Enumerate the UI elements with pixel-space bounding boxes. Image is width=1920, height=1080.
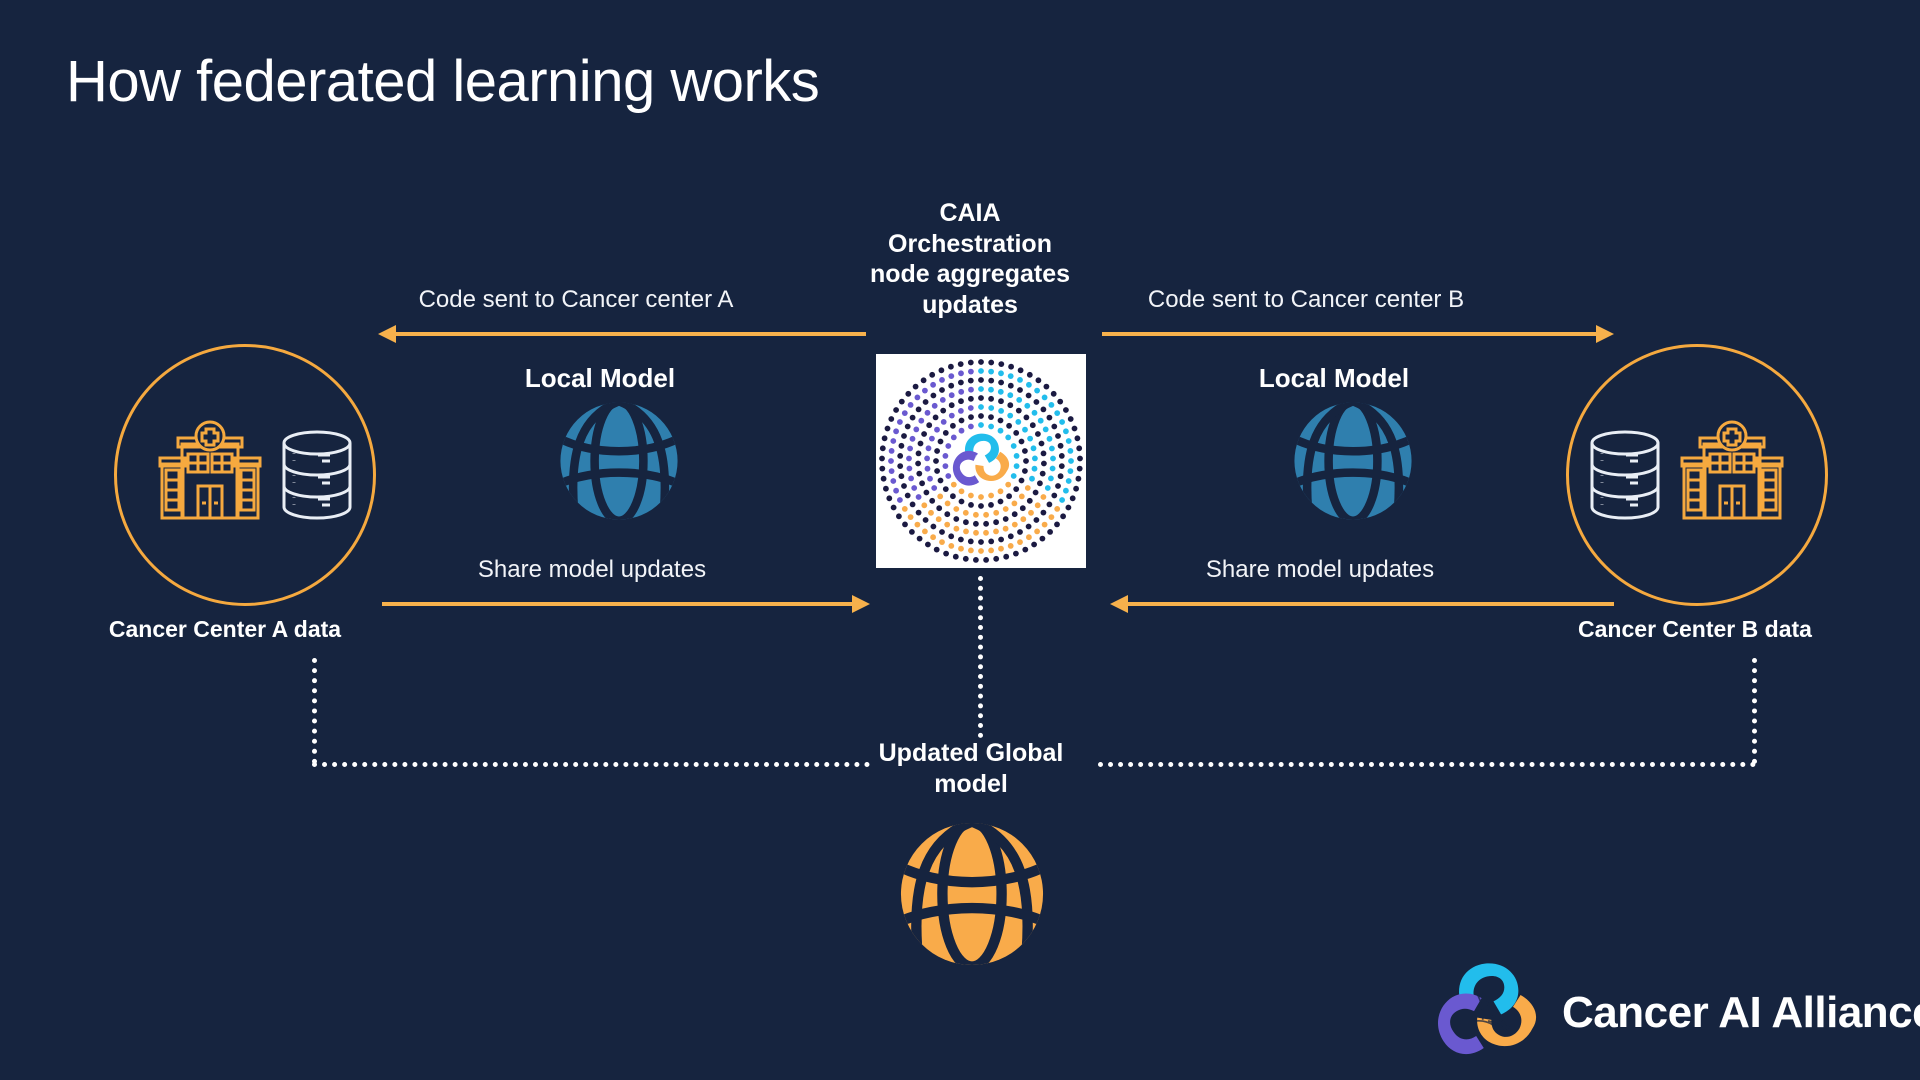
updated-global-model-label: Updated Global model (856, 738, 1086, 799)
arrow-share-updates-a (382, 592, 870, 618)
brand-wordmark: Cancer AI Alliance (1562, 988, 1920, 1038)
hospital-icon (154, 420, 266, 530)
share-updates-a-label: Share model updates (392, 556, 792, 584)
cancer-center-b-icons (1562, 400, 1812, 550)
caia-radial-dot-logo-icon (876, 354, 1086, 568)
local-model-b-label: Local Model (1244, 363, 1424, 395)
database-icon (278, 429, 356, 521)
globe-icon (898, 820, 1046, 968)
arrow-code-to-center-b (1102, 322, 1614, 348)
globe-icon (1292, 400, 1414, 522)
share-updates-b-label: Share model updates (1120, 556, 1520, 584)
caia-orchestration-node-tile (876, 354, 1086, 568)
globe-icon (558, 400, 680, 522)
database-icon (1586, 429, 1664, 521)
dotted-connector-left-horizontal (312, 762, 870, 767)
hospital-icon (1676, 420, 1788, 530)
cancer-center-b-data-label: Cancer Center B data (1540, 615, 1850, 643)
code-sent-b-label: Code sent to Cancer center B (1100, 286, 1512, 314)
dotted-connector-right-vertical (1752, 658, 1757, 764)
three-hands-logo-icon (1432, 958, 1542, 1068)
brand-lockup: Cancer AI Alliance (1432, 958, 1920, 1068)
arrow-code-to-center-a (378, 322, 866, 348)
page-title: How federated learning works (66, 48, 819, 115)
cancer-center-a-icons (130, 400, 380, 550)
cancer-center-a-data-label: Cancer Center A data (70, 615, 380, 643)
dotted-connector-center-vertical (978, 576, 983, 738)
slide-canvas: How federated learning works CAIA Orches… (0, 0, 1920, 1080)
dotted-connector-right-horizontal (1098, 762, 1756, 767)
code-sent-a-label: Code sent to Cancer center A (376, 286, 776, 314)
center-node-caption: CAIA Orchestration node aggregates updat… (855, 198, 1085, 320)
local-model-a-label: Local Model (510, 363, 690, 395)
dotted-connector-left-vertical (312, 658, 317, 764)
arrow-share-updates-b (1110, 592, 1614, 618)
